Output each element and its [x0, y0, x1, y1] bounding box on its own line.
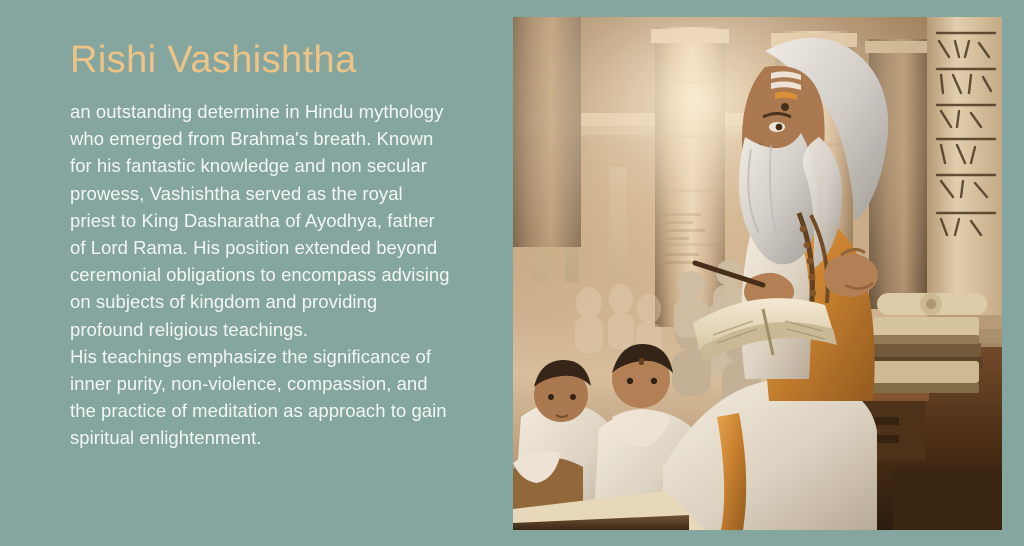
body-copy: an outstanding determine in Hindu mythol… [70, 98, 450, 452]
body-paragraph-2: His teachings emphasize the significance… [70, 343, 450, 452]
body-paragraph-1: an outstanding determine in Hindu mythol… [70, 98, 450, 343]
page-title: Rishi Vashishtha [70, 36, 450, 84]
illustration-artwork [513, 17, 1002, 530]
illustration-image [513, 17, 1002, 530]
text-panel: Rishi Vashishtha an outstanding determin… [70, 36, 450, 452]
